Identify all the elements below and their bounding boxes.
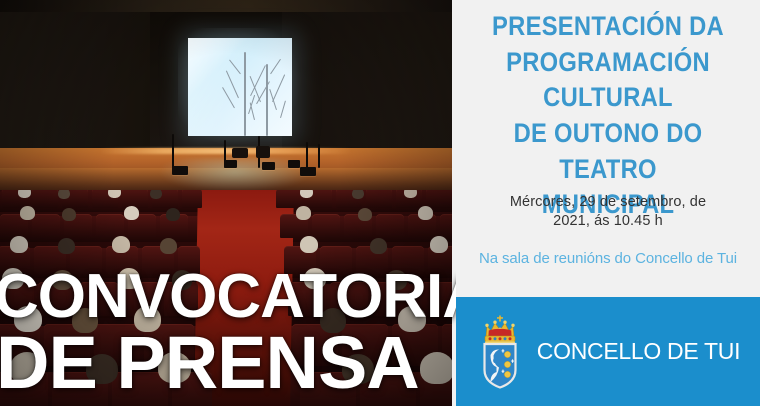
stage-monitor <box>288 160 300 168</box>
theater-auditorium-photo <box>0 0 452 406</box>
galicia-coat-of-arms-crest <box>476 315 524 389</box>
event-venue: Na sala de reunións do Concello de Tui <box>464 250 752 267</box>
brand-name: CONCELLO DE TUI <box>537 338 740 365</box>
event-datetime-line-1: Mércores, 29 de setembro, de <box>466 193 750 212</box>
audience-area <box>0 190 452 406</box>
screen-light-wash <box>188 38 292 136</box>
event-title-line-1: PRESENTACIÓN DA <box>480 9 737 45</box>
event-title-line-2: PROGRAMACIÓN CULTURAL <box>480 45 737 116</box>
stage-edge-highlight <box>100 148 352 154</box>
stage-monitor <box>172 166 188 175</box>
mic-stand <box>306 142 308 168</box>
brand-footer: CONCELLO DE TUI <box>456 297 760 406</box>
lighting-rail <box>0 0 452 12</box>
press-call-poster: CONVOCATORIA DE PRENSA PRESENTACIÓN DA P… <box>0 0 760 406</box>
brand-row: CONCELLO DE TUI <box>456 297 760 406</box>
event-datetime: Mércores, 29 de setembro, de 2021, ás 10… <box>466 193 750 231</box>
event-title: PRESENTACIÓN DA PROGRAMACIÓN CULTURAL DE… <box>480 9 737 223</box>
mic-stand <box>318 144 320 168</box>
projection-screen-image <box>188 38 292 136</box>
mic-stand <box>172 134 174 168</box>
music-stand <box>232 148 248 158</box>
event-datetime-line-2: 2021, ás 10.45 h <box>466 212 750 231</box>
stage-monitor <box>224 160 237 168</box>
projection-screen <box>188 38 292 136</box>
music-stand <box>256 146 270 158</box>
stage-monitor <box>300 167 316 176</box>
stage-monitor <box>262 162 275 170</box>
event-title-line-3: DE OUTONO DO TEATRO <box>480 116 737 187</box>
